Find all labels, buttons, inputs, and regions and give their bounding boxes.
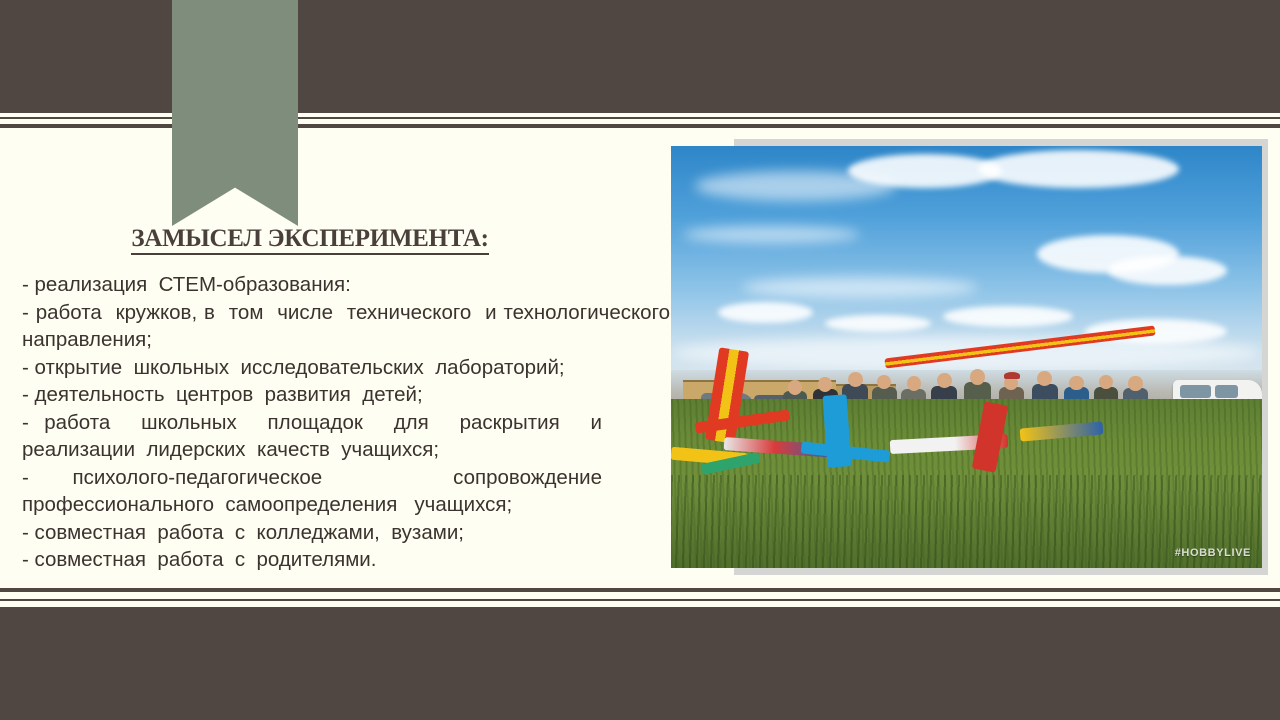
page-title-text: ЗАМЫСЕЛ ЭКСПЕРИМЕНТА: [131,225,488,255]
person-head [1128,376,1142,390]
suv-window [1180,385,1210,399]
cloud-icon [742,277,978,298]
cloud-icon [1108,256,1226,286]
photo-grass-foreground [671,475,1262,568]
person-head [937,373,952,388]
list-item: - реализация СТЕМ-образования: [22,271,582,299]
photo-watermark: #HOBBYLIVE [1175,547,1251,559]
list-item: - совместная работа с родителями. [22,546,542,574]
person-head [1069,376,1083,390]
suv-window [1215,385,1238,399]
cloud-icon [683,226,860,243]
cloud-icon [825,315,931,332]
group-photo: #HOBBYLIVE [671,146,1262,568]
list-item: - открытие школьных исследовательских ла… [22,354,670,382]
cap-icon [1004,372,1020,379]
text-column: ЗАМЫСЕЛ ЭКСПЕРИМЕНТА: - реализация СТЕМ-… [0,128,672,588]
page-title: ЗАМЫСЕЛ ЭКСПЕРИМЕНТА: [0,225,620,253]
person-head [788,380,802,394]
person-head [818,377,832,391]
bottom-thick-rule [0,588,1280,592]
bottom-thin-rule [0,599,1280,601]
person-head [1099,375,1113,389]
bottom-dark-band [0,607,1280,720]
cloud-icon [978,150,1179,188]
list-item: - работа школьных площадок для раскрытия… [22,409,602,464]
photo-inner: #HOBBYLIVE [671,146,1262,568]
bullet-list: - реализация СТЕМ-образования: - работа … [22,271,670,574]
list-item: - психолого-педагогическое сопровождение… [22,464,602,519]
presentation-slide: ЗАМЫСЕЛ ЭКСПЕРИМЕНТА: - реализация СТЕМ-… [0,0,1280,720]
list-item: - работа кружков, в том числе техническо… [22,299,670,354]
list-item: - деятельность центров развития детей; [22,381,582,409]
list-item: - совместная работа с колледжами, вузами… [22,519,542,547]
person-head [907,376,921,390]
cloud-icon [718,302,813,323]
